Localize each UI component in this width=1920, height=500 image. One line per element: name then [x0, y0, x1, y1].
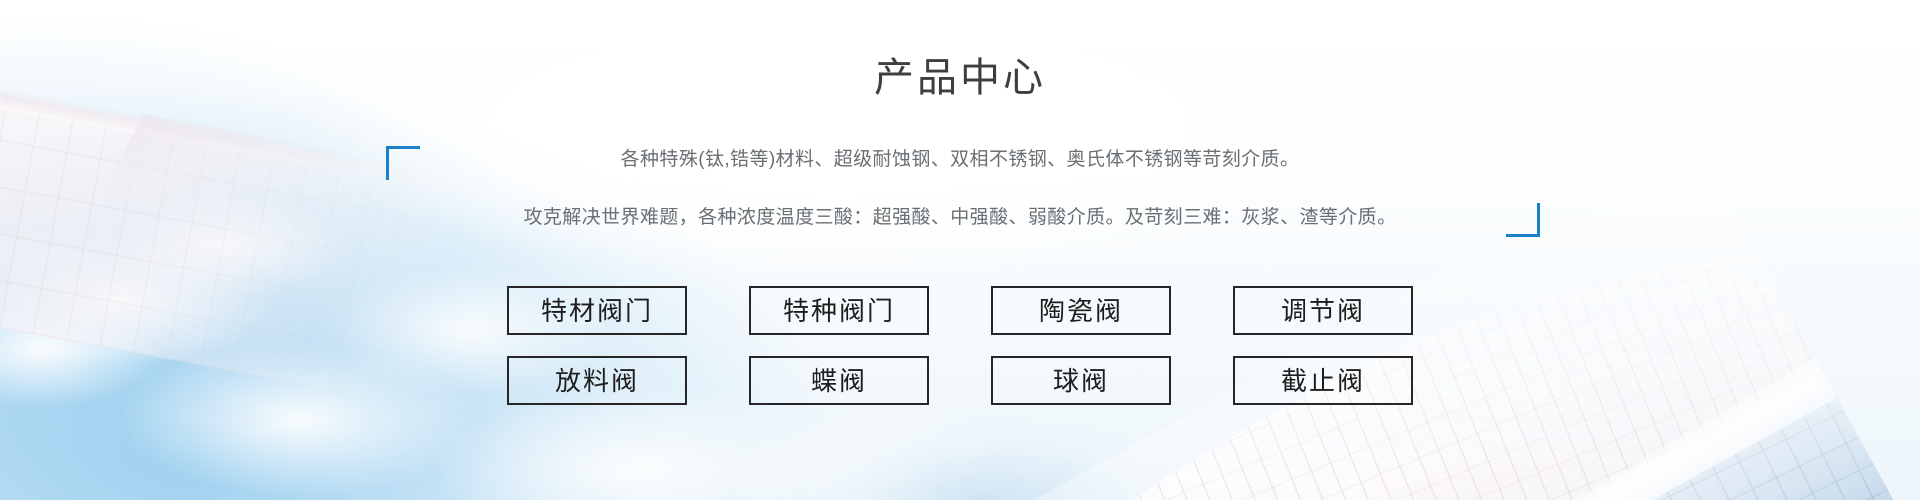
category-button-fang-liao-fa[interactable]: 放料阀: [507, 356, 687, 405]
bracket-horizontal-rule: [1506, 234, 1540, 237]
bracket-vertical-rule: [386, 146, 389, 180]
category-button-grid: 特材阀门 特种阀门 陶瓷阀 调节阀 放料阀 蝶阀 球阀 截止阀: [507, 286, 1413, 405]
category-button-te-cai-fa-men[interactable]: 特材阀门: [507, 286, 687, 335]
corner-bracket-bottom-right: [1506, 203, 1540, 237]
bracket-vertical-rule: [1537, 203, 1540, 237]
description-line-2: 攻克解决世界难题，各种浓度温度三酸：超强酸、中强酸、弱酸介质。及苛刻三难：灰浆、…: [0, 198, 1920, 238]
category-button-qiu-fa[interactable]: 球阀: [991, 356, 1171, 405]
category-button-tiao-jie-fa[interactable]: 调节阀: [1233, 286, 1413, 335]
banner-content: 产品中心 各种特殊(钛,锆等)材料、超级耐蚀钢、双相不锈钢、奥氏体不锈钢等苛刻介…: [0, 0, 1920, 500]
category-button-die-fa[interactable]: 蝶阀: [749, 356, 929, 405]
category-button-tao-ci-fa[interactable]: 陶瓷阀: [991, 286, 1171, 335]
page-title: 产品中心: [0, 50, 1920, 106]
corner-bracket-top-left: [386, 146, 420, 180]
category-button-jie-zhi-fa[interactable]: 截止阀: [1233, 356, 1413, 405]
description-line-1: 各种特殊(钛,锆等)材料、超级耐蚀钢、双相不锈钢、奥氏体不锈钢等苛刻介质。: [0, 140, 1920, 180]
description-block: 各种特殊(钛,锆等)材料、超级耐蚀钢、双相不锈钢、奥氏体不锈钢等苛刻介质。 攻克…: [0, 140, 1920, 238]
category-button-te-zhong-fa-men[interactable]: 特种阀门: [749, 286, 929, 335]
bracket-horizontal-rule: [386, 146, 420, 149]
product-center-banner: 产品中心 各种特殊(钛,锆等)材料、超级耐蚀钢、双相不锈钢、奥氏体不锈钢等苛刻介…: [0, 0, 1920, 500]
